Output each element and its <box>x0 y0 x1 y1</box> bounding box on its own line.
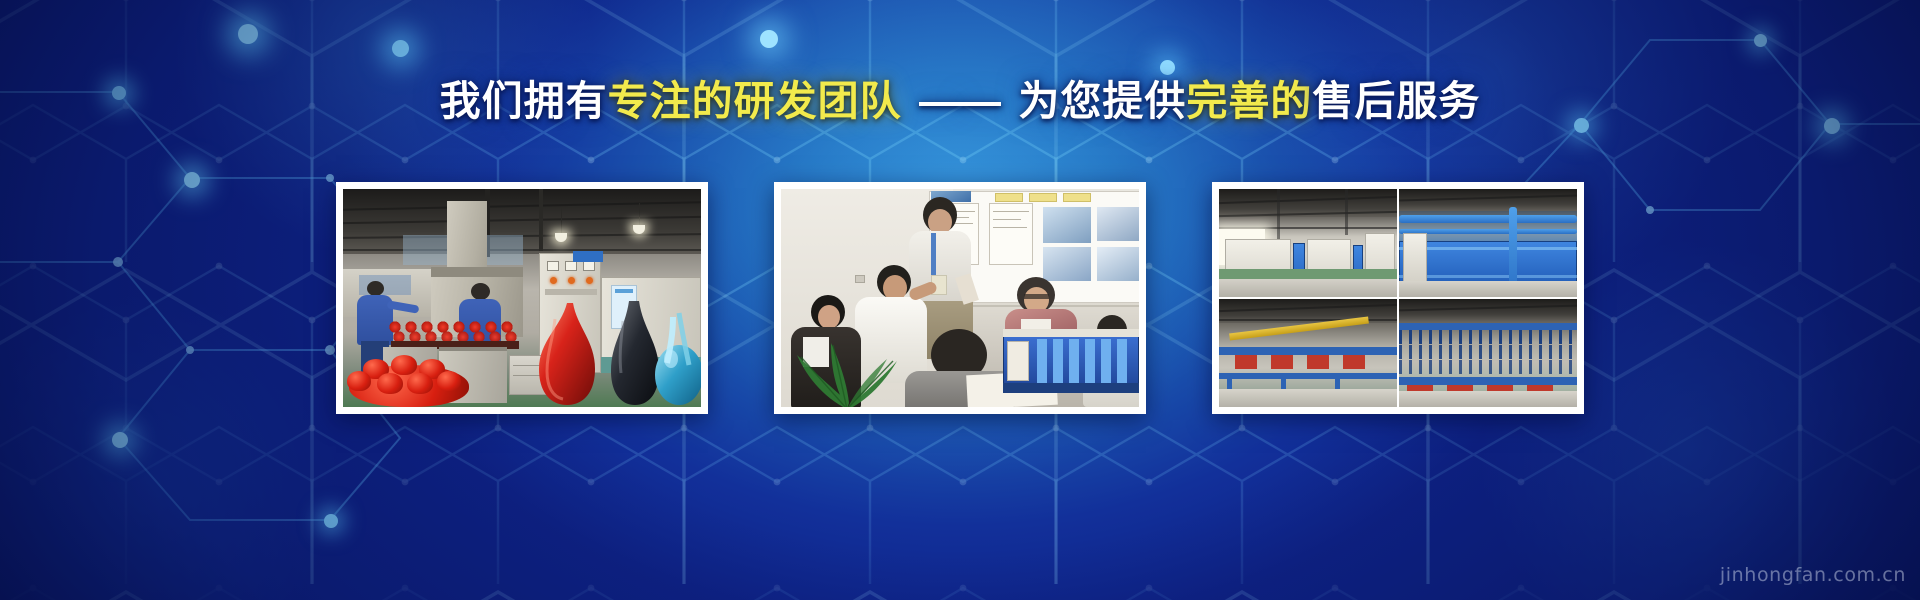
product-vases-icon <box>533 297 701 407</box>
photo-gallery <box>0 182 1920 414</box>
headline-segment-2-highlight: 专注的研发团队 <box>608 78 902 124</box>
workshop-collage-photo-image <box>1219 189 1577 407</box>
plant-leaves-icon <box>787 331 907 407</box>
site-watermark: jinhongfan.com.cn <box>1720 564 1906 586</box>
headline-segment-6: 售后服务 <box>1312 78 1480 124</box>
headline-segment-5-highlight: 完善的 <box>1186 78 1312 124</box>
headline-segment-4: 为您提供 <box>1018 78 1186 124</box>
headline-segment-1: 我们拥有 <box>440 78 608 124</box>
page-title: 我们拥有专注的研发团队 —— 为您提供完善的售后服务 <box>440 78 1481 125</box>
production-line-photo[interactable] <box>336 182 708 414</box>
headline-container: 我们拥有专注的研发团队 —— 为您提供完善的售后服务 <box>0 78 1920 125</box>
customer-meeting-photo[interactable] <box>774 182 1146 414</box>
workshop-collage-photo[interactable] <box>1212 182 1584 414</box>
promo-banner: 我们拥有专注的研发团队 —— 为您提供完善的售后服务 <box>0 0 1920 600</box>
customer-meeting-photo-image <box>781 189 1139 407</box>
production-line-photo-image <box>343 189 701 407</box>
headline-dash: —— <box>902 78 1019 124</box>
